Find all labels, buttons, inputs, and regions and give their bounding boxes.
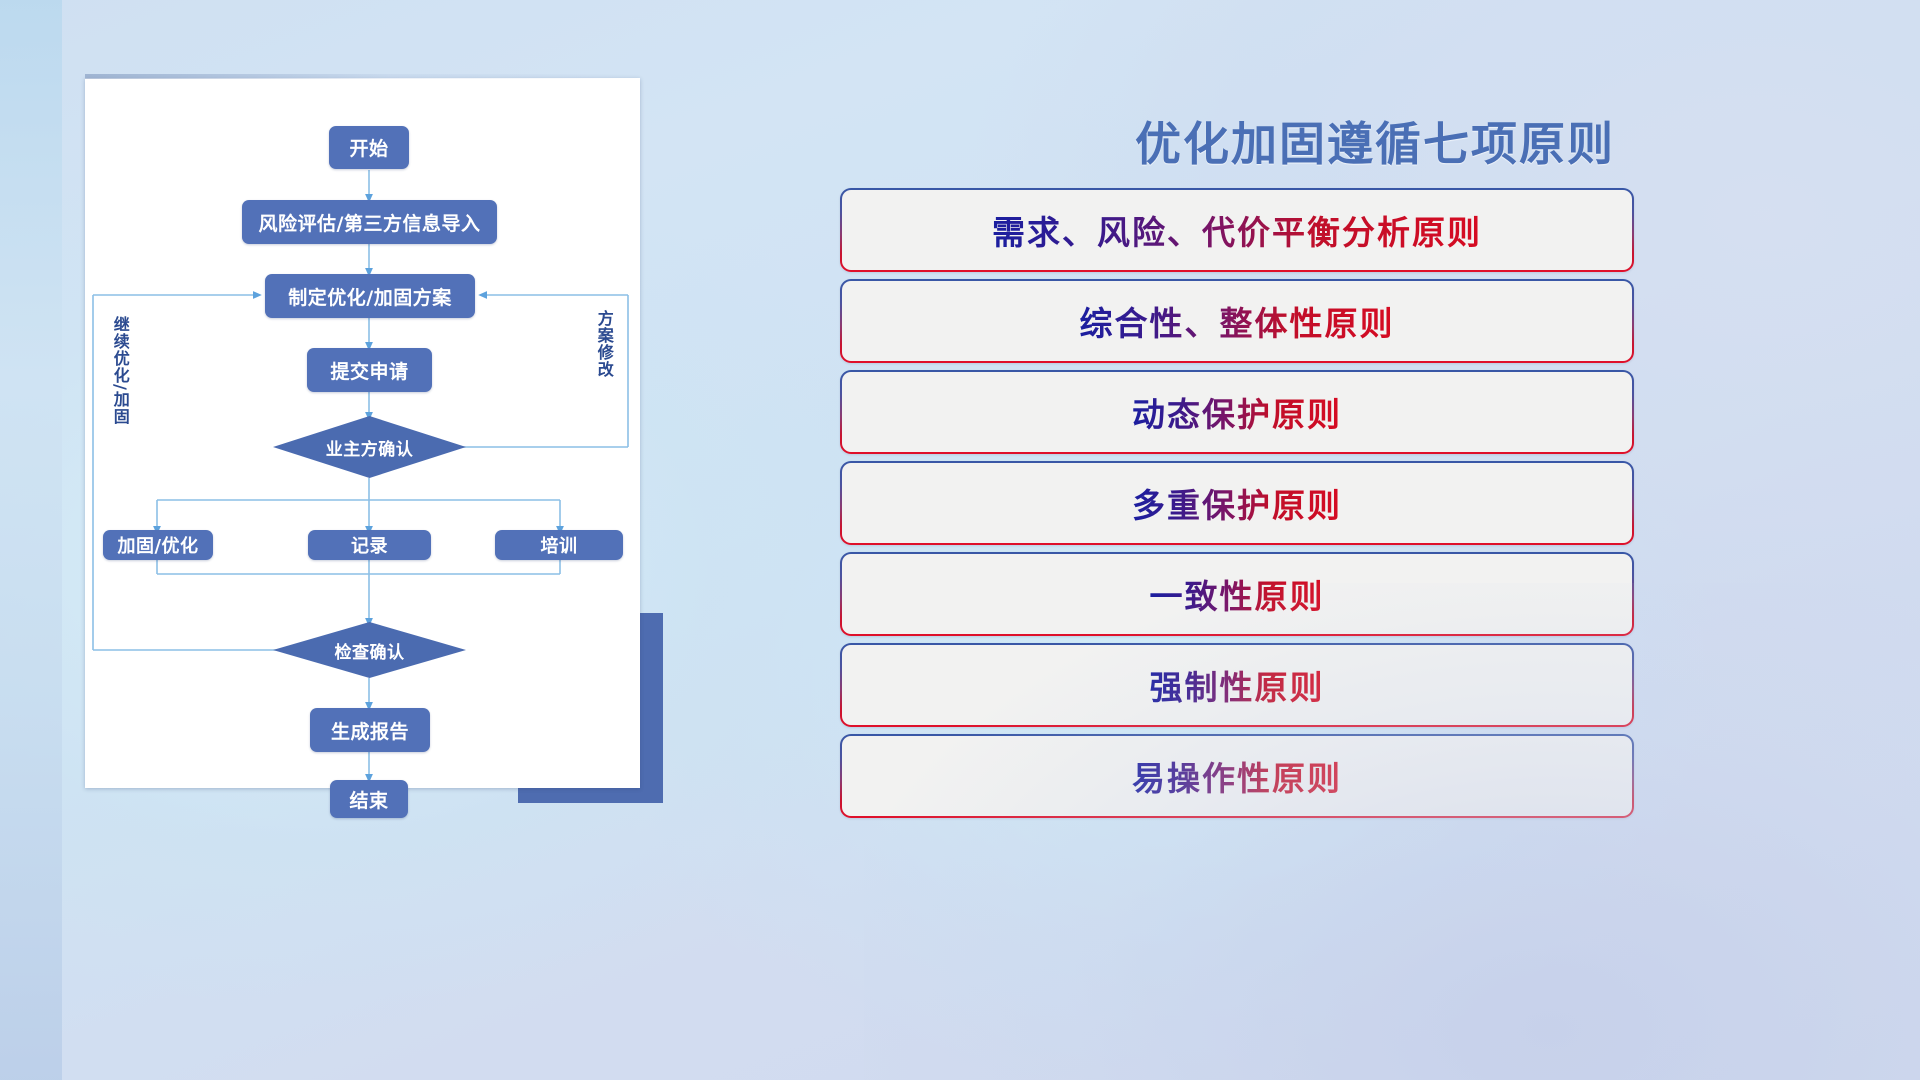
- principle-item-4[interactable]: 多重保护原则: [840, 461, 1634, 545]
- flow-node-reinforce-optimize[interactable]: 加固/优化: [103, 530, 213, 560]
- flow-node-training[interactable]: 培训: [495, 530, 623, 560]
- flow-node-record[interactable]: 记录: [308, 530, 431, 560]
- flow-node-start[interactable]: 开始: [329, 126, 409, 169]
- edge-label-continue-optimize: 继续优化/加固: [111, 316, 128, 446]
- principle-item-3[interactable]: 动态保护原则: [840, 370, 1634, 454]
- principle-label: 易操作性原则: [1132, 752, 1342, 800]
- flow-node-generate-report[interactable]: 生成报告: [310, 708, 430, 752]
- principles-panel: 优化加固遵循七项原则 需求、风险、代价平衡分析原则 综合性、整体性原则 动态保护…: [830, 0, 1920, 1080]
- flowchart: 开始 风险评估/第三方信息导入 制定优化/加固方案 提交申请 业主方确认 加固/…: [85, 78, 640, 788]
- principle-label: 多重保护原则: [1132, 479, 1342, 527]
- flow-node-label: 生成报告: [331, 717, 409, 744]
- flow-node-end[interactable]: 结束: [330, 780, 408, 818]
- flow-node-risk-assessment[interactable]: 风险评估/第三方信息导入: [242, 200, 497, 244]
- flow-node-label: 培训: [541, 532, 578, 558]
- flow-node-label: 提交申请: [330, 357, 408, 384]
- principle-item-1[interactable]: 需求、风险、代价平衡分析原则: [840, 188, 1634, 272]
- principle-label: 需求、风险、代价平衡分析原则: [992, 206, 1482, 254]
- flow-node-label: 业主方确认: [326, 435, 414, 460]
- principle-label: 一致性原则: [1150, 570, 1325, 618]
- flow-node-check-confirm-shape[interactable]: 检查确认: [273, 622, 466, 678]
- slide-canvas: 开始 风险评估/第三方信息导入 制定优化/加固方案 提交申请 业主方确认 加固/…: [0, 0, 1920, 1080]
- page-title: 优化加固遵循七项原则: [830, 108, 1920, 174]
- flow-node-label: 结束: [349, 786, 388, 813]
- principle-item-7[interactable]: 易操作性原则: [840, 734, 1634, 818]
- principle-item-5[interactable]: 一致性原则: [840, 552, 1634, 636]
- principle-label: 动态保护原则: [1132, 388, 1342, 436]
- edge-label-plan-revision: 方案修改: [595, 310, 612, 406]
- flow-node-label: 风险评估/第三方信息导入: [259, 209, 481, 236]
- flow-node-label: 记录: [351, 532, 388, 558]
- flow-node-submit-application[interactable]: 提交申请: [307, 348, 432, 392]
- principle-label: 综合性、整体性原则: [1080, 297, 1395, 345]
- principle-label: 强制性原则: [1150, 661, 1325, 709]
- flow-node-label: 加固/优化: [117, 532, 198, 558]
- principle-item-2[interactable]: 综合性、整体性原则: [840, 279, 1634, 363]
- flow-node-label: 制定优化/加固方案: [288, 283, 451, 310]
- flow-node-label: 检查确认: [335, 638, 405, 663]
- principle-item-6[interactable]: 强制性原则: [840, 643, 1634, 727]
- flow-node-owner-confirm[interactable]: 业主方确认: [273, 416, 466, 478]
- flow-node-label: 开始: [349, 134, 388, 161]
- flow-node-make-plan[interactable]: 制定优化/加固方案: [265, 274, 475, 318]
